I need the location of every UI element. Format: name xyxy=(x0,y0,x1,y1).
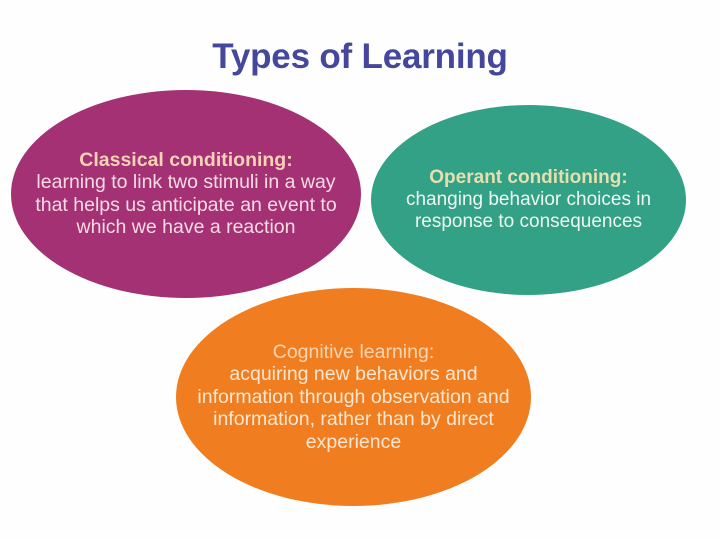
concept-text-cognitive: Cognitive learning: acquiring new behavi… xyxy=(176,341,531,454)
concept-ellipse-cognitive-learning[interactable]: Cognitive learning: acquiring new behavi… xyxy=(176,288,531,506)
concept-body-classical: learning to link two stimuli in a way th… xyxy=(21,171,351,239)
concept-heading-operant: Operant conditioning: xyxy=(381,167,676,189)
concept-text-operant: Operant conditioning: changing behavior … xyxy=(371,167,686,233)
concept-heading-classical: Classical conditioning: xyxy=(21,149,351,171)
concept-body-cognitive: acquiring new behaviors and information … xyxy=(186,363,521,453)
concept-body-operant: changing behavior choices in response to… xyxy=(381,189,676,233)
page-title: Types of Learning xyxy=(0,37,720,77)
concept-text-classical: Classical conditioning: learning to link… xyxy=(11,149,361,239)
concept-heading-cognitive: Cognitive learning: xyxy=(186,341,521,363)
concept-ellipse-classical-conditioning[interactable]: Classical conditioning: learning to link… xyxy=(11,90,361,298)
slide-canvas: Types of Learning Classical conditioning… xyxy=(0,0,720,539)
concept-ellipse-operant-conditioning[interactable]: Operant conditioning: changing behavior … xyxy=(371,105,686,295)
